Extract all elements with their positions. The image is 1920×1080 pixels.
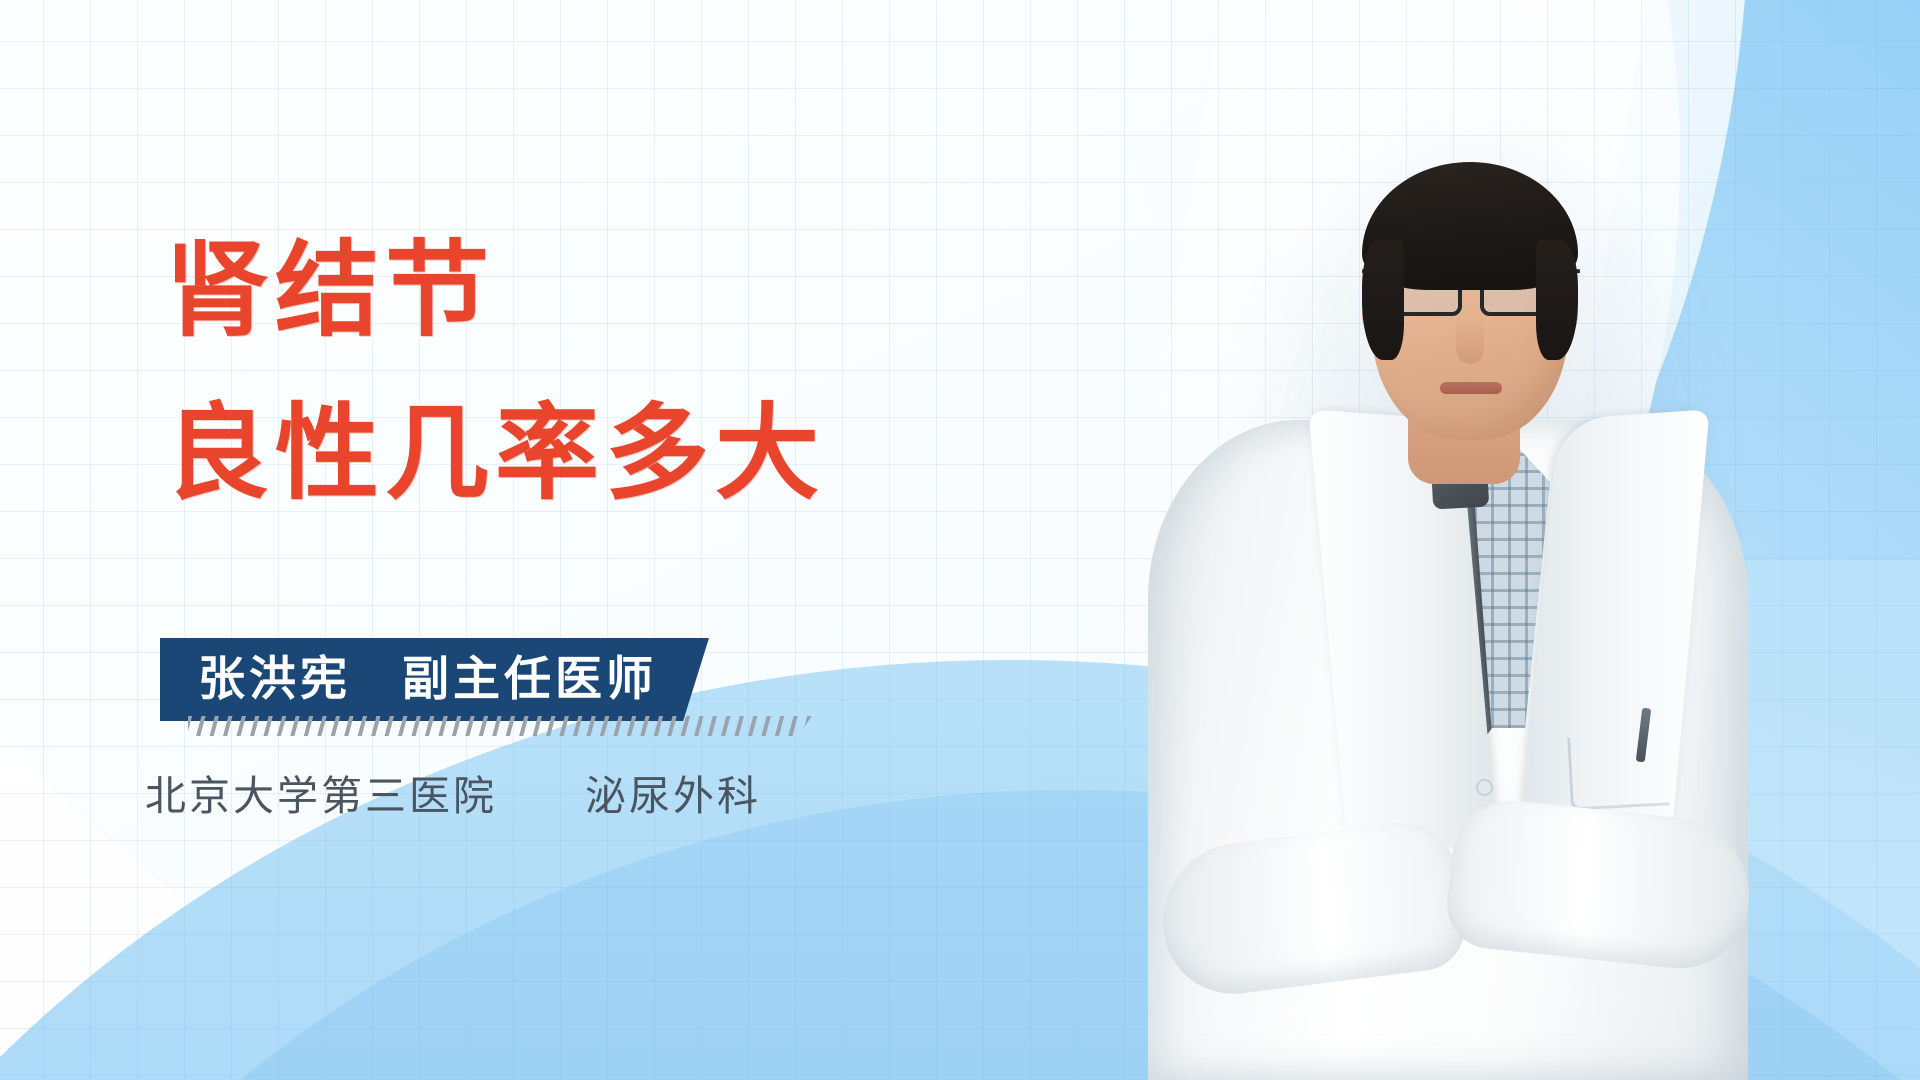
doctor-badge: 张洪宪 副主任医师: [160, 638, 820, 721]
badge-stripe-decoration: [188, 716, 812, 736]
coat-pocket: [1567, 732, 1670, 810]
coat-button: [1478, 781, 1491, 794]
cover-title-line-1: 肾结节: [165, 232, 825, 351]
hair-side-left: [1362, 240, 1404, 360]
doctor-portrait: [1140, 60, 1760, 1080]
nose: [1456, 318, 1484, 364]
hospital-department-line: 北京大学第三医院 泌尿外科: [145, 762, 761, 822]
cover-canvas: 肾结节 良性几率多大 张洪宪 副主任医师 北京大学第三医院 泌尿外科: [0, 0, 1920, 1080]
mouth: [1440, 382, 1502, 394]
cover-title: 肾结节 良性几率多大: [165, 196, 825, 551]
cover-title-line-2: 良性几率多大: [165, 395, 825, 514]
text-content-block: 肾结节 良性几率多大 张洪宪 副主任医师 北京大学第三医院 泌尿外科: [0, 0, 1000, 1080]
doctor-badge-label: 张洪宪 副主任医师: [160, 638, 709, 721]
hair-side-right: [1536, 240, 1578, 360]
